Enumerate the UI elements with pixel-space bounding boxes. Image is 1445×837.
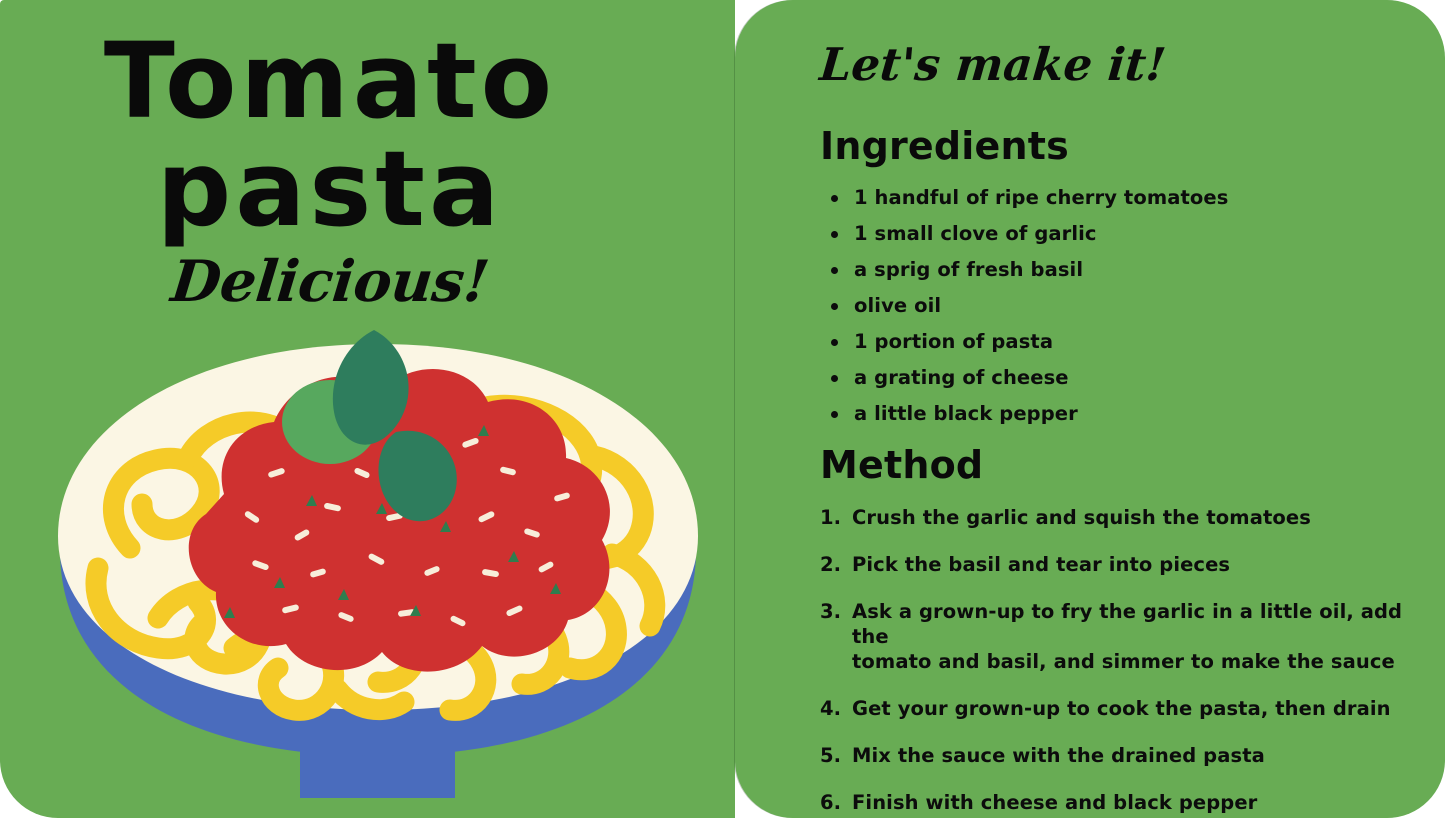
list-item: 1 portion of pasta <box>818 324 1418 360</box>
ingredient-label: a grating of cheese <box>854 366 1069 389</box>
bullet-icon <box>831 375 838 382</box>
ingredient-label: 1 handful of ripe cherry tomatoes <box>854 186 1228 209</box>
list-item: 1 small clove of garlic <box>818 216 1418 252</box>
step-text: Finish with cheese and black pepper <box>852 790 1418 815</box>
bullet-icon <box>831 339 838 346</box>
bullet-icon <box>831 195 838 202</box>
method-list: 1. Crush the garlic and squish the tomat… <box>818 505 1418 837</box>
step-number: 1. <box>820 505 841 530</box>
lets-make-it-header: Let's make it! <box>818 38 1168 91</box>
recipe-book-spread: Tomato pasta Delicious! <box>0 0 1445 818</box>
list-item: 2. Pick the basil and tear into pieces <box>818 552 1418 577</box>
ingredient-label: a sprig of fresh basil <box>854 258 1083 281</box>
list-item: 6. Finish with cheese and black pepper <box>818 790 1418 815</box>
page-title: Tomato pasta <box>0 28 660 242</box>
title-line-2: pasta <box>0 136 660 242</box>
step-text: Crush the garlic and squish the tomatoes <box>852 505 1418 530</box>
list-item: a grating of cheese <box>818 360 1418 396</box>
bullet-icon <box>831 231 838 238</box>
bullet-icon <box>831 267 838 274</box>
ingredient-label: 1 portion of pasta <box>854 330 1053 353</box>
ingredient-label: olive oil <box>854 294 941 317</box>
step-text: Get your grown-up to cook the pasta, the… <box>852 696 1418 721</box>
list-item: 4. Get your grown-up to cook the pasta, … <box>818 696 1418 721</box>
tagline-delicious: Delicious! <box>0 248 664 315</box>
method-heading: Method <box>820 443 983 487</box>
ingredient-label: a little black pepper <box>854 402 1078 425</box>
list-item: 1 handful of ripe cherry tomatoes <box>818 180 1418 216</box>
ingredients-heading: Ingredients <box>820 124 1069 168</box>
list-item: 1. Crush the garlic and squish the tomat… <box>818 505 1418 530</box>
step-text: Pick the basil and tear into pieces <box>852 552 1418 577</box>
recipe-content: Let's make it! Ingredients 1 handful of … <box>818 0 1418 818</box>
step-number: 6. <box>820 790 841 815</box>
step-number: 2. <box>820 552 841 577</box>
left-page: Tomato pasta Delicious! <box>0 0 735 818</box>
step-text: Ask a grown-up to fry the garlic in a li… <box>852 599 1418 649</box>
bullet-icon <box>831 303 838 310</box>
ingredient-label: 1 small clove of garlic <box>854 222 1097 245</box>
title-line-1: Tomato <box>0 28 660 134</box>
step-number: 4. <box>820 696 841 721</box>
step-number: 3. <box>820 599 841 624</box>
pasta-bowl-illustration <box>38 318 718 818</box>
list-item: 3. Ask a grown-up to fry the garlic in a… <box>818 599 1418 674</box>
ingredients-list: 1 handful of ripe cherry tomatoes 1 smal… <box>818 180 1418 432</box>
list-item: olive oil <box>818 288 1418 324</box>
list-item: a little black pepper <box>818 396 1418 432</box>
step-number: 5. <box>820 743 841 768</box>
list-item: 5. Mix the sauce with the drained pasta <box>818 743 1418 768</box>
list-item: a sprig of fresh basil <box>818 252 1418 288</box>
step-text: Mix the sauce with the drained pasta <box>852 743 1418 768</box>
bullet-icon <box>831 411 838 418</box>
step-text-continued: tomato and basil, and simmer to make the… <box>852 649 1418 674</box>
